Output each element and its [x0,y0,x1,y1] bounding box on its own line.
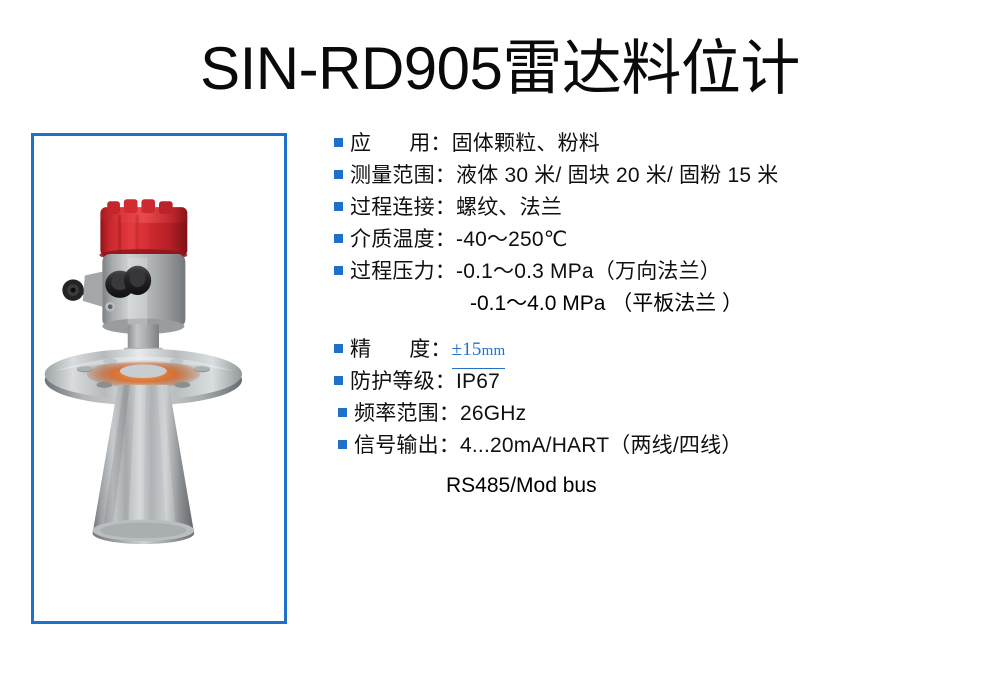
spec-value-medium-temperature: -40～250℃ [456,224,568,255]
spec-label-signal-output: 信号输出 [354,434,439,457]
spec-sep-signal-output: ： [439,434,460,457]
spec-label-frequency-range: 频率范围 [354,402,439,425]
spec-value-application: 固体颗粒、粉料 [452,128,600,159]
spec-value-accuracy: ±15mm [452,334,506,369]
bullet-square-icon [334,234,343,243]
spec-group-primary: 应用： 固体颗粒、粉料 测量范围： 液体 30 米/ 固块 20 米/ 固粉 1… [334,128,974,320]
spec-row-accuracy: 精度： ±15mm [334,334,974,366]
radar-level-gauge-illustration [34,136,284,621]
spec-row-application: 应用： 固体颗粒、粉料 [334,128,974,160]
spec-sep-protection-rating: ： [435,370,456,393]
bullet-square-icon [338,440,347,449]
spec-group-secondary: 精度： ±15mm 防护等级： IP67 频率范围： 26GHz 信号输出： 4… [334,334,974,504]
spec-label-accuracy-b: 度 [409,338,430,361]
spec-value-protection-rating: IP67 [456,366,500,397]
spec-label-application-a: 应 [350,132,371,155]
spec-row-signal-output: 信号输出： 4...20mA/HART（两线/四线） [334,430,974,462]
spec-row-process-pressure: 过程压力： -0.1～0.3 MPa（万向法兰） [334,256,974,288]
product-image-frame [31,133,287,624]
spec-sep-medium-temperature: ： [435,228,456,251]
spec-label-measuring-range: 测量范围 [350,164,435,187]
spec-label-process-connection: 过程连接 [350,196,435,219]
specifications-panel: 应用： 固体颗粒、粉料 测量范围： 液体 30 米/ 固块 20 米/ 固粉 1… [334,128,974,504]
page-title: SIN-RD905雷达料位计 [0,36,1000,102]
spec-value-accuracy-unit: mm [482,343,506,359]
bullet-square-icon [334,170,343,179]
spec-label-application-b: 用 [409,132,430,155]
bullet-square-icon [334,344,343,353]
spec-label-protection-rating: 防护等级 [350,370,435,393]
spec-sep-measuring-range: ： [435,164,456,187]
spec-sep-process-connection: ： [435,196,456,219]
spec-value-process-pressure: -0.1～0.3 MPa（万向法兰） [456,256,721,287]
spec-sep-frequency-range: ： [439,402,460,425]
spec-row-medium-temperature: 介质温度： -40～250℃ [334,224,974,256]
bullet-square-icon [334,138,343,147]
spec-value-frequency-range: 26GHz [460,398,526,429]
spec-sep-application: ： [430,132,451,155]
spec-value-signal-output-line2: RS485/Mod bus [334,462,974,504]
spec-value-process-pressure-line2: -0.1～4.0 MPa （平板法兰 ） [334,288,974,320]
bullet-square-icon [334,202,343,211]
spec-group-divider [334,320,974,334]
spec-value-measuring-range: 液体 30 米/ 固块 20 米/ 固粉 15 米 [456,160,778,191]
spec-label-medium-temperature: 介质温度 [350,228,435,251]
spec-sep-accuracy: ： [430,338,451,361]
bullet-square-icon [338,408,347,417]
spec-row-process-connection: 过程连接： 螺纹、法兰 [334,192,974,224]
spec-value-accuracy-number: ±15 [452,339,482,360]
bullet-square-icon [334,266,343,275]
spec-row-frequency-range: 频率范围： 26GHz [334,398,974,430]
spec-sep-process-pressure: ： [435,260,456,283]
spec-label-accuracy-a: 精 [350,338,371,361]
spec-value-signal-output: 4...20mA/HART（两线/四线） [460,430,743,461]
spec-label-process-pressure: 过程压力 [350,260,435,283]
red-cap-group [99,199,187,261]
bullet-square-icon [334,376,343,385]
horn-antenna-group [93,385,195,544]
spec-value-process-connection: 螺纹、法兰 [456,192,562,223]
spec-row-protection-rating: 防护等级： IP67 [334,366,974,398]
spec-row-measuring-range: 测量范围： 液体 30 米/ 固块 20 米/ 固粉 15 米 [334,160,974,192]
